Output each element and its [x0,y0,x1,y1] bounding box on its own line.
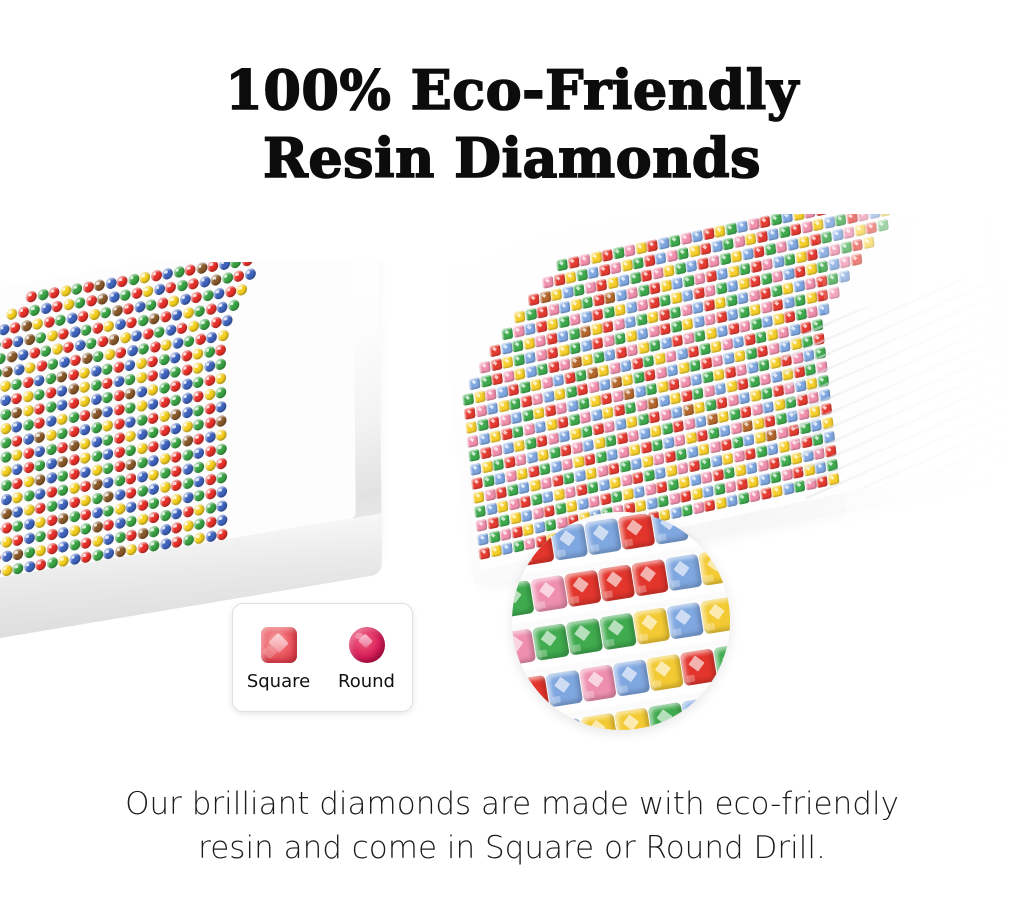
closeup-drill-bead [599,613,637,651]
tray-highlight-fade [809,214,1024,599]
drill-bead [171,536,182,549]
drill-bead [194,532,205,545]
square-drill-closeup-circle [512,512,730,730]
round-gem-icon [349,627,385,663]
drill-bead [726,494,738,507]
drill-bead [228,299,239,312]
drill-bead [771,485,783,498]
drill-bead [149,540,160,553]
caption-line-1: Our brilliant diamonds are made with eco… [0,782,1024,826]
drill-shape-legend-card[interactable]: Square Round [232,603,413,712]
closeup-drill-bead [614,707,652,730]
drill-bead [35,559,46,572]
drill-bead [760,487,772,500]
tray-body-left [0,262,402,652]
closeup-drill-bead [685,512,723,540]
legend-label-round: Round [338,672,395,692]
closeup-drill-bead [618,512,656,550]
headline-line-2: Resin Diamonds [0,124,1024,192]
closeup-drill-bead [613,659,651,697]
drill-bead [160,538,171,551]
drill-bead [703,499,715,512]
closeup-drill-bead [512,512,520,523]
closeup-drill-bead [646,654,684,692]
drill-bead [126,543,137,556]
closeup-bead-rows [512,512,730,730]
round-drill-tray-photo [0,262,404,652]
drill-bead [217,528,228,541]
drill-bead [24,561,35,574]
drill-bead [205,530,216,543]
closeup-drill-bead [633,607,671,645]
closeup-drill-bead [564,570,602,608]
closeup-drill-bead [530,575,568,613]
closeup-drill-bead [648,702,686,730]
drill-bead [183,534,194,547]
drill-bead [1,564,12,577]
closeup-drill-bead [681,697,719,730]
closeup-drill-bead [651,512,689,545]
drill-bead [114,545,125,558]
caption-line-2: resin and come in Square or Round Drill. [0,826,1024,870]
closeup-drill-bead [700,597,730,635]
closeup-drill-bead [551,523,589,561]
promo-banner: 100% Eco-Friendly Resin Diamonds [0,0,1024,923]
drill-bead [80,551,91,564]
drill-bead [244,268,255,281]
drill-bead [737,492,749,505]
drill-bead [12,562,23,575]
closeup-drill-bead [631,559,669,597]
drill-bead [490,545,502,558]
page-title: 100% Eco-Friendly Resin Diamonds [0,56,1024,192]
closeup-drill-bead [698,548,730,586]
closeup-drill-bead [665,554,703,592]
product-description: Our brilliant diamonds are made with eco… [0,782,1024,870]
closeup-drill-bead [532,623,570,661]
closeup-drill-bead [515,512,553,518]
drill-bead [782,482,794,495]
closeup-drill-bead [598,564,636,602]
legend-items: Square Round [233,604,412,711]
drill-bead [137,542,148,555]
drill-bead [103,547,114,560]
closeup-drill-bead [680,648,718,686]
closeup-drill-bead [545,670,583,708]
square-gem-icon [261,627,297,663]
closeup-drill-bead [566,618,604,656]
closeup-drill-bead [584,518,622,556]
headline-line-1: 100% Eco-Friendly [0,56,1024,124]
closeup-drill-bead [666,602,704,640]
legend-label-square: Square [247,672,310,692]
closeup-drill-bead [579,664,617,702]
drill-bead [58,555,69,568]
legend-item-square[interactable]: Square [244,627,314,692]
drill-bead [748,490,760,503]
legend-item-round[interactable]: Round [332,627,402,692]
drill-bead [715,497,727,510]
drill-bead [69,553,80,566]
closeup-drill-bead [512,675,550,713]
drill-bead [236,284,247,297]
closeup-drill-bead [517,528,555,566]
drill-bead [92,549,103,562]
drill-bead [46,557,57,570]
drill-bead [478,547,490,560]
